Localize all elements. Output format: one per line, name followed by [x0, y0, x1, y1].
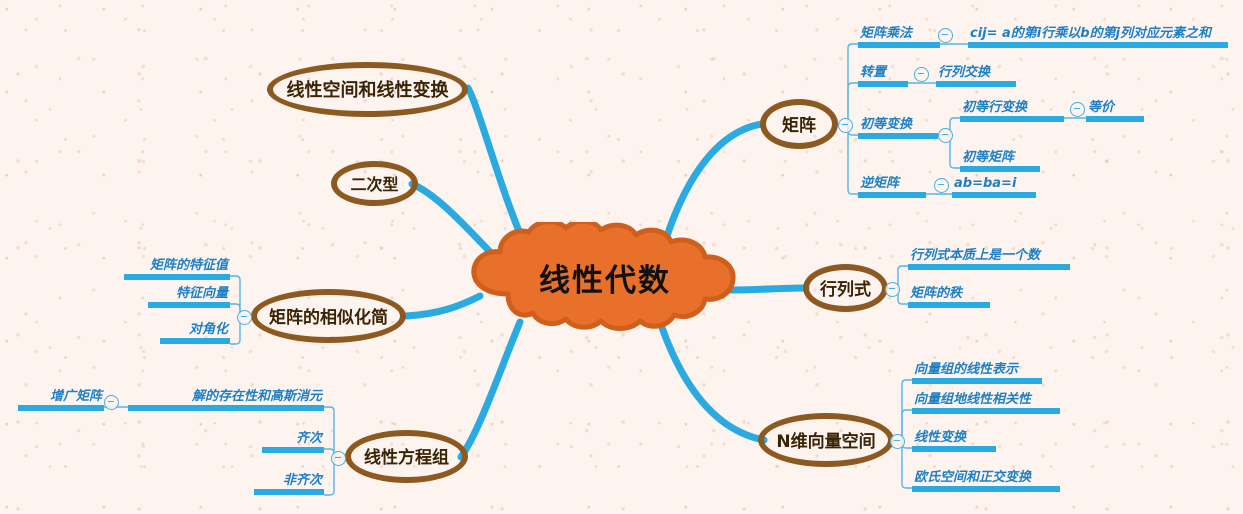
subtopic-label-diagonalization: 对角化 [189, 322, 228, 337]
collapse-toggle-matrix[interactable] [838, 118, 853, 133]
subtopic-node-elementary-matrix[interactable]: 初等矩阵 [960, 146, 1040, 172]
subtopic-label-transpose: 转置 [860, 65, 886, 80]
subtopic-node-diagonalization[interactable]: 对角化 [160, 318, 230, 344]
subtopic-label-elementary-transform: 初等变换 [860, 117, 912, 132]
subtopic-node-euclidean-orthogonal[interactable]: 欧氏空间和正交变换 [912, 466, 1060, 492]
subtopic-label-matrix-rank: 矩阵的秩 [910, 286, 962, 301]
subtopic-underline [960, 116, 1064, 122]
subtopic-node-matrix-rank[interactable]: 矩阵的秩 [908, 282, 990, 308]
subtopic-underline [908, 302, 990, 308]
subtopic-underline [912, 486, 1060, 492]
subtopic-node-homogeneous[interactable]: 齐次 [262, 427, 324, 453]
subtopic-node-vector-linear-repr[interactable]: 向量组的线性表示 [912, 358, 1042, 384]
topic-label-matrix: 矩阵 [782, 111, 816, 136]
subtopic-label-elementary-matrix: 初等矩阵 [962, 150, 1014, 165]
subtopic-label-eigenvalue: 矩阵的特征值 [150, 258, 228, 273]
topic-label-determinant: 行列式 [820, 275, 871, 300]
subtopic-underline [912, 378, 1042, 384]
subtopic-underline [858, 42, 940, 48]
collapse-toggle-transpose[interactable] [914, 67, 929, 82]
subtopic-label-eigenvector: 特征向量 [176, 286, 228, 301]
topic-node-matrix[interactable]: 矩阵 [760, 99, 838, 149]
subtopic-label-matmul-formula: cij= a的第i行乘以b的第j列对应元素之和 [970, 26, 1211, 41]
subtopic-node-row-col-swap[interactable]: 行列交换 [936, 61, 1016, 87]
topic-node-nvector-space[interactable]: N维向量空间 [758, 413, 894, 467]
collapse-toggle-matrix-multiplication[interactable] [938, 28, 953, 43]
collapse-toggle-elementary-row-op[interactable] [1070, 102, 1085, 117]
subtopic-node-elementary-row-op[interactable]: 初等行变换 [960, 96, 1064, 122]
subtopic-underline [18, 405, 104, 411]
subtopic-underline [936, 81, 1016, 87]
subtopic-label-euclidean-orthogonal: 欧氏空间和正交变换 [914, 470, 1031, 485]
collapse-toggle-matrix-similarity[interactable] [237, 310, 252, 325]
subtopic-node-eigenvector[interactable]: 特征向量 [148, 282, 230, 308]
central-topic-label: 线性代数 [460, 222, 750, 332]
subtopic-node-vector-linear-dependence[interactable]: 向量组地线性相关性 [912, 388, 1060, 414]
subtopic-underline [148, 302, 230, 308]
subtopic-node-equivalence[interactable]: 等价 [1086, 96, 1144, 122]
collapse-toggle-solution-existence-gauss[interactable] [104, 395, 119, 410]
subtopic-node-linear-transform[interactable]: 线性变换 [912, 426, 996, 452]
central-topic-node[interactable]: 线性代数 [460, 222, 750, 332]
collapse-toggle-inverse-matrix[interactable] [934, 178, 949, 193]
subtopic-node-augmented-matrix[interactable]: 增广矩阵 [18, 385, 104, 411]
subtopic-underline [128, 405, 324, 411]
subtopic-underline [858, 133, 938, 139]
subtopic-label-linear-transform: 线性变换 [914, 430, 966, 445]
collapse-toggle-linear-equations[interactable] [331, 451, 346, 466]
subtopic-label-inverse-identity: ab=ba=i [954, 176, 1016, 191]
subtopic-node-matmul-formula[interactable]: cij= a的第i行乘以b的第j列对应元素之和 [968, 22, 1228, 48]
subtopic-label-augmented-matrix: 增广矩阵 [50, 389, 102, 404]
subtopic-underline [1086, 116, 1144, 122]
subtopic-node-inverse-identity[interactable]: ab=ba=i [952, 172, 1036, 198]
subtopic-underline [858, 81, 908, 87]
collapse-toggle-nvector-space[interactable] [890, 434, 905, 449]
subtopic-node-elementary-transform[interactable]: 初等变换 [858, 113, 938, 139]
topic-label-linear-space: 线性空间和线性变换 [287, 76, 449, 102]
subtopic-underline [912, 408, 1060, 414]
topic-label-linear-equations: 线性方程组 [364, 443, 449, 468]
subtopic-label-equivalence: 等价 [1088, 100, 1114, 115]
topic-node-quadratic-form[interactable]: 二次型 [331, 161, 418, 206]
subtopic-underline [908, 264, 1070, 270]
subtopic-label-elementary-row-op: 初等行变换 [962, 100, 1027, 115]
subtopic-label-vector-linear-dependence: 向量组地线性相关性 [914, 392, 1031, 407]
subtopic-label-matrix-multiplication: 矩阵乘法 [860, 26, 912, 41]
subtopic-node-det-is-number[interactable]: 行列式本质上是一个数 [908, 244, 1070, 270]
subtopic-label-row-col-swap: 行列交换 [938, 65, 990, 80]
subtopic-underline [952, 192, 1036, 198]
subtopic-node-solution-existence-gauss[interactable]: 解的存在性和高斯消元 [128, 385, 324, 411]
topic-label-nvector-space: N维向量空间 [776, 427, 875, 452]
subtopic-node-eigenvalue[interactable]: 矩阵的特征值 [124, 254, 230, 280]
topic-label-quadratic-form: 二次型 [350, 171, 398, 195]
topic-node-determinant[interactable]: 行列式 [803, 264, 888, 312]
subtopic-label-vector-linear-repr: 向量组的线性表示 [914, 362, 1018, 377]
subtopic-underline [254, 489, 324, 495]
subtopic-underline [968, 42, 1228, 48]
subtopic-label-inverse-matrix: 逆矩阵 [860, 176, 899, 191]
subtopic-underline [912, 446, 996, 452]
subtopic-underline [262, 447, 324, 453]
subtopic-underline [160, 338, 230, 344]
subtopic-node-nonhomogeneous[interactable]: 非齐次 [254, 469, 324, 495]
subtopic-node-matrix-multiplication[interactable]: 矩阵乘法 [858, 22, 940, 48]
collapse-toggle-determinant[interactable] [885, 282, 900, 297]
subtopic-underline [124, 274, 230, 280]
subtopic-label-det-is-number: 行列式本质上是一个数 [910, 248, 1040, 263]
subtopic-label-nonhomogeneous: 非齐次 [283, 473, 322, 488]
subtopic-label-solution-existence-gauss: 解的存在性和高斯消元 [192, 389, 322, 404]
topic-node-matrix-similarity[interactable]: 矩阵的相似化简 [251, 289, 406, 343]
subtopic-underline [858, 192, 926, 198]
topic-node-linear-space[interactable]: 线性空间和线性变换 [267, 62, 468, 117]
subtopic-node-transpose[interactable]: 转置 [858, 61, 908, 87]
topic-node-linear-equations[interactable]: 线性方程组 [345, 430, 468, 483]
subtopic-node-inverse-matrix[interactable]: 逆矩阵 [858, 172, 926, 198]
collapse-toggle-elementary-transform[interactable] [938, 128, 953, 143]
topic-label-matrix-similarity: 矩阵的相似化简 [269, 303, 388, 328]
subtopic-label-homogeneous: 齐次 [296, 431, 322, 446]
